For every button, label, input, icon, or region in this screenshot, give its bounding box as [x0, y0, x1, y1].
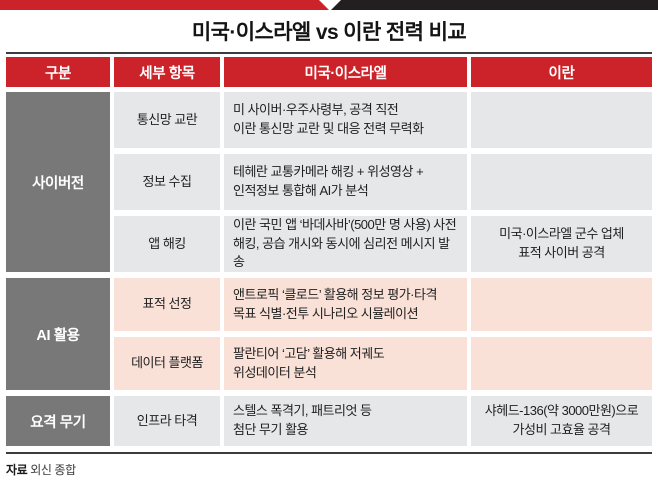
row-text-line: 표적 사이버 공격	[499, 244, 624, 263]
banner-notch-icon	[319, 0, 341, 10]
row-text-line: 이란 통신망 교란 및 대응 전력 무력화	[233, 120, 424, 139]
header-cell-us-israel: 미국·이스라엘	[224, 57, 467, 87]
table-group-cyber: 사이버전 통신망 교란 미 사이버·우주사령부, 공격 직전 이란 통신망 교란…	[6, 92, 652, 272]
row-iran-cell	[471, 92, 652, 148]
row-text-line: 스텔스 폭격기, 패트리엇 등	[233, 402, 372, 421]
row-text-line: 첨단 무기 활용	[233, 421, 372, 440]
top-banner	[0, 0, 658, 10]
row-text-line: 테헤란 교통카메라 해킹 + 위성영상 +	[233, 163, 423, 182]
banner-black-segment	[330, 0, 658, 10]
group-label-intercept: 요격 무기	[6, 396, 110, 446]
row-us-israel-cell: 테헤란 교통카메라 해킹 + 위성영상 + 인적정보 통합해 AI가 분석	[224, 154, 467, 210]
table-row: 데이터 플랫폼 팔란티어 ‘고담’ 활용해 저궤도 위성데이터 분석	[114, 337, 652, 390]
row-text-line: 미국·이스라엘 군수 업체	[499, 225, 624, 244]
table-row: 정보 수집 테헤란 교통카메라 해킹 + 위성영상 + 인적정보 통합해 AI가…	[114, 154, 652, 210]
source-value: 외신 종합	[30, 463, 76, 477]
group-rows-cyber: 통신망 교란 미 사이버·우주사령부, 공격 직전 이란 통신망 교란 및 대응…	[114, 92, 652, 272]
row-item-label: 데이터 플랫폼	[114, 337, 220, 390]
row-text-line: 이란 국민 앱 ‘바데사바’(500만 명 사용) 사전	[233, 216, 458, 235]
table-header-row: 구분 세부 항목 미국·이스라엘 이란	[6, 57, 652, 87]
row-us-israel-cell: 앤트로픽 ‘클로드’ 활용해 정보 평가·타격 목표 식별·전투 시나리오 시뮬…	[224, 278, 467, 331]
row-item-label: 통신망 교란	[114, 92, 220, 148]
table-top-rule	[6, 52, 652, 54]
row-iran-cell	[471, 337, 652, 390]
row-us-israel-cell: 팔란티어 ‘고담’ 활용해 저궤도 위성데이터 분석	[224, 337, 467, 390]
table-row: 통신망 교란 미 사이버·우주사령부, 공격 직전 이란 통신망 교란 및 대응…	[114, 92, 652, 148]
row-item-label: 표적 선정	[114, 278, 220, 331]
row-us-israel-cell: 미 사이버·우주사령부, 공격 직전 이란 통신망 교란 및 대응 전력 무력화	[224, 92, 467, 148]
infographic-root: 미국·이스라엘 vs 이란 전력 비교 구분 세부 항목 미국·이스라엘 이란 …	[0, 0, 658, 481]
row-text-line: 인적정보 통합해 AI가 분석	[233, 182, 423, 201]
table-group-intercept: 요격 무기 인프라 타격 스텔스 폭격기, 패트리엇 등 첨단 무기 활용 샤헤…	[6, 396, 652, 446]
row-text-line: 가성비 고효율 공격	[485, 421, 638, 440]
row-text-line: 미 사이버·우주사령부, 공격 직전	[233, 101, 424, 120]
group-label-ai: AI 활용	[6, 278, 110, 390]
source-footer: 자료 외신 종합	[0, 454, 658, 478]
row-item-label: 정보 수집	[114, 154, 220, 210]
row-text-line: 앤트로픽 ‘클로드’ 활용해 정보 평가·타격	[233, 286, 437, 305]
header-cell-detail-item: 세부 항목	[114, 57, 220, 87]
row-item-label: 앱 해킹	[114, 216, 220, 272]
title-container: 미국·이스라엘 vs 이란 전력 비교	[0, 10, 658, 52]
table-group-ai: AI 활용 표적 선정 앤트로픽 ‘클로드’ 활용해 정보 평가·타격 목표 식…	[6, 278, 652, 390]
row-text-line: 샤헤드-136(약 3000만원)으로	[485, 402, 638, 421]
row-item-label: 인프라 타격	[114, 396, 220, 446]
row-iran-cell	[471, 278, 652, 331]
row-iran-cell	[471, 154, 652, 210]
row-text-line: 위성데이터 분석	[233, 364, 384, 383]
header-cell-category: 구분	[6, 57, 110, 87]
source-label: 자료	[6, 463, 27, 477]
comparison-table: 구분 세부 항목 미국·이스라엘 이란 사이버전 통신망 교란 미 사이버·우주…	[0, 52, 658, 446]
row-us-israel-cell: 이란 국민 앱 ‘바데사바’(500만 명 사용) 사전 해킹, 공습 개시와 …	[224, 216, 467, 272]
row-iran-cell: 샤헤드-136(약 3000만원)으로 가성비 고효율 공격	[471, 396, 652, 446]
group-rows-intercept: 인프라 타격 스텔스 폭격기, 패트리엇 등 첨단 무기 활용 샤헤드-136(…	[114, 396, 652, 446]
row-iran-cell: 미국·이스라엘 군수 업체 표적 사이버 공격	[471, 216, 652, 272]
row-text-line: 목표 식별·전투 시나리오 시뮬레이션	[233, 305, 437, 324]
table-row: 앱 해킹 이란 국민 앱 ‘바데사바’(500만 명 사용) 사전 해킹, 공습…	[114, 216, 652, 272]
table-row: 인프라 타격 스텔스 폭격기, 패트리엇 등 첨단 무기 활용 샤헤드-136(…	[114, 396, 652, 446]
group-rows-ai: 표적 선정 앤트로픽 ‘클로드’ 활용해 정보 평가·타격 목표 식별·전투 시…	[114, 278, 652, 390]
header-cell-iran: 이란	[471, 57, 652, 87]
group-label-cyber: 사이버전	[6, 92, 110, 272]
row-text-line: 팔란티어 ‘고담’ 활용해 저궤도	[233, 345, 384, 364]
table-row: 표적 선정 앤트로픽 ‘클로드’ 활용해 정보 평가·타격 목표 식별·전투 시…	[114, 278, 652, 331]
row-us-israel-cell: 스텔스 폭격기, 패트리엇 등 첨단 무기 활용	[224, 396, 467, 446]
banner-red-segment	[0, 0, 330, 10]
page-title: 미국·이스라엘 vs 이란 전력 비교	[192, 16, 466, 46]
row-text-line: 해킹, 공습 개시와 동시에 심리전 메시지 발송	[233, 235, 458, 273]
